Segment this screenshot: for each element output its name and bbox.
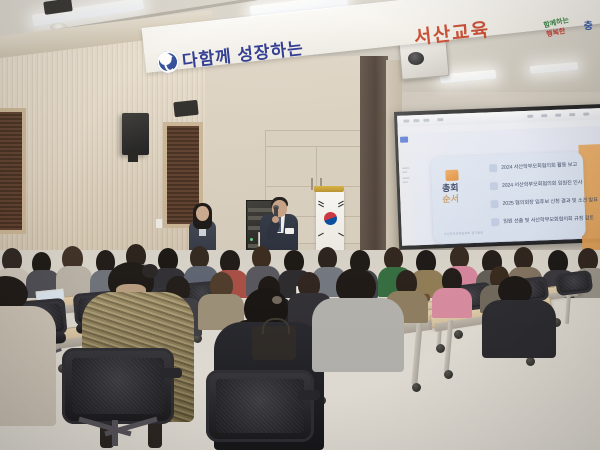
slide-canvas: 총회 순서 2024 서산학부모회협의회 활동 보고 2024 서산학부모회협의… bbox=[410, 126, 600, 245]
slide-item-text: 2024 서산학부모회협의회 임원진 인사 bbox=[502, 179, 583, 189]
slide-title-line2: 순서 bbox=[442, 193, 482, 205]
rack-led-icon bbox=[250, 238, 253, 241]
cabinet-seam bbox=[265, 146, 365, 147]
chair-armrest[interactable] bbox=[298, 390, 320, 400]
flag-header-bar bbox=[314, 186, 344, 192]
taeguk-symbol-icon bbox=[324, 212, 337, 225]
chair-caster bbox=[454, 330, 463, 339]
orange-document-icon bbox=[445, 170, 458, 181]
calligraphy-word: 충 bbox=[583, 17, 593, 33]
calligraphy-word: 행복한 bbox=[545, 26, 566, 40]
list-chip bbox=[491, 218, 499, 226]
slide-title-line1: 총회 bbox=[442, 182, 482, 194]
desk-caster bbox=[526, 357, 535, 366]
desk-caster bbox=[436, 344, 445, 353]
list-chip bbox=[490, 182, 498, 190]
wall-speaker-icon bbox=[122, 113, 149, 155]
window-blind bbox=[0, 112, 22, 230]
slide-thumbnail-active[interactable] bbox=[400, 136, 408, 142]
banner-calligraphy: 함께하는 행복한 충 bbox=[541, 12, 600, 45]
desk-caster bbox=[412, 383, 421, 392]
list-chip bbox=[490, 200, 498, 208]
handbag-strap bbox=[262, 318, 290, 334]
slide-item-text: 임원 선출 및 서산학부모회협의회 규정 검토 bbox=[503, 214, 594, 224]
ceiling-speaker-icon bbox=[173, 100, 198, 117]
chair[interactable] bbox=[555, 270, 593, 296]
list-chip bbox=[489, 164, 497, 172]
speaker-hand bbox=[272, 216, 279, 223]
name-badge bbox=[285, 228, 294, 234]
desk-caster bbox=[444, 370, 453, 379]
cabinet-handle[interactable] bbox=[311, 178, 313, 190]
foreground-person-leg bbox=[148, 420, 162, 448]
earring-icon bbox=[272, 296, 282, 304]
person-grey-sweater bbox=[312, 298, 404, 372]
rack-unit bbox=[248, 208, 273, 212]
presentation-app-window[interactable]: 총회 순서 2024 서산학부모회협의회 활동 보고 2024 서산학부모회협의… bbox=[397, 108, 600, 246]
slide-item-text: 2025 협의회장 입후보 신청 결과 및 소견 발표 bbox=[502, 196, 597, 207]
chair-foreground-right[interactable] bbox=[206, 370, 314, 442]
chair-foreground-left[interactable] bbox=[62, 348, 174, 424]
partial-person-body bbox=[0, 306, 56, 426]
wall-outlet-icon bbox=[155, 218, 163, 229]
slide-item-text: 2024 서산학부모회협의회 활동 보고 bbox=[501, 161, 577, 171]
conference-room-photo: 다함께 성장하는 서산교육 함께하는 행복한 충 bbox=[0, 0, 600, 450]
chair-armrest[interactable] bbox=[160, 368, 182, 378]
wood-pillar bbox=[360, 56, 388, 266]
speaker-mount bbox=[128, 150, 138, 162]
assistant-head bbox=[196, 206, 209, 221]
window-left bbox=[0, 108, 26, 234]
hair-clip-icon bbox=[142, 264, 158, 278]
projection-screen: 총회 순서 2024 서산학부모회협의회 활동 보고 2024 서산학부모회협의… bbox=[394, 104, 600, 250]
person-body bbox=[482, 300, 556, 358]
projector-lens-icon bbox=[408, 52, 424, 65]
